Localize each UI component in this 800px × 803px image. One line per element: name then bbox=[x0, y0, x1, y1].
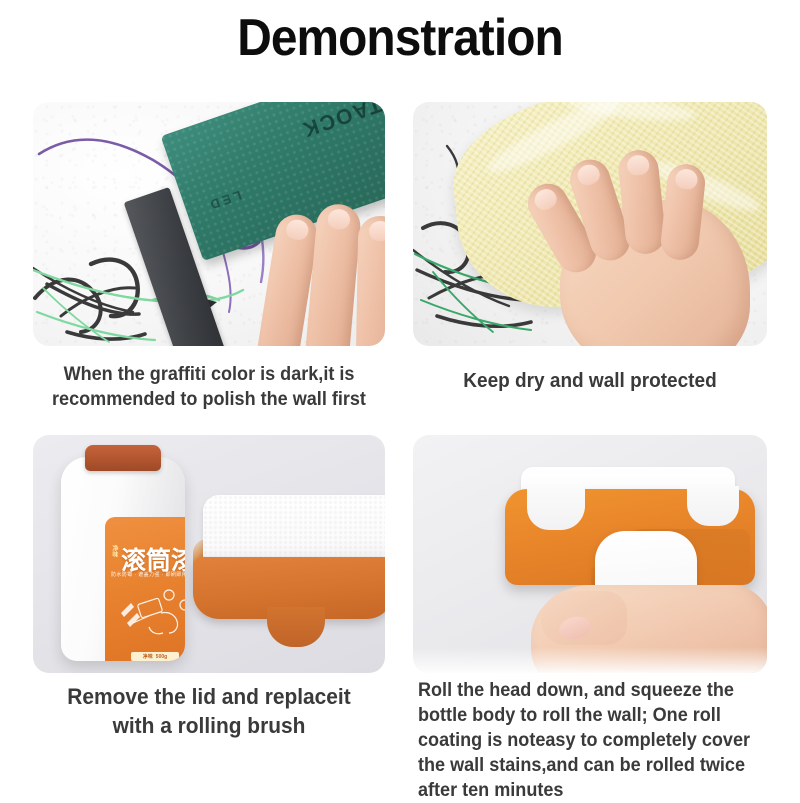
caption-line: Keep dry and wall protected bbox=[422, 368, 758, 394]
hand-holding-sanding-block bbox=[249, 188, 385, 346]
caption-line: the wall stains,and can be rolled twice bbox=[418, 753, 756, 778]
fingernail bbox=[626, 154, 650, 176]
fingernail bbox=[369, 221, 385, 241]
bottle-label-side-text: 净味 bbox=[110, 545, 117, 557]
bottle-label-subtext: 防水防霉 · 遮盖力强 · 即刷即用 · 环保无异味 bbox=[111, 571, 185, 578]
roller-frame-notch-left bbox=[527, 486, 585, 530]
caption-line: coating is noteasy to completely cover bbox=[418, 728, 756, 753]
paint-bottle: 净味 滚筒漆 防水防霉 · 遮盖力强 · 即刷即用 · 环保无异味 bbox=[61, 457, 185, 661]
caption-line: recommended to polish the wall first bbox=[42, 387, 376, 412]
demonstration-page: Demonstration bbox=[0, 0, 800, 800]
fingernail bbox=[575, 162, 602, 188]
caption-step-4: Roll the head down, and squeeze the bott… bbox=[418, 678, 756, 803]
thumbnail bbox=[557, 613, 593, 642]
caption-line: after ten minutes bbox=[418, 778, 756, 803]
roller-brush-head bbox=[193, 495, 385, 645]
roller-stem bbox=[267, 607, 325, 647]
fingernail bbox=[285, 218, 310, 241]
caption-line: Roll the head down, and squeeze the bbox=[418, 678, 756, 703]
hand-wiping-wall bbox=[518, 142, 767, 346]
page-title: Demonstration bbox=[32, 8, 768, 68]
roller-frame-notch-right bbox=[687, 486, 739, 526]
roller-illustration-icon bbox=[113, 583, 185, 645]
caption-step-3: Remove the lid and replaceit with a roll… bbox=[42, 682, 376, 740]
caption-line: Remove the lid and replaceit bbox=[42, 682, 376, 711]
bottle-weight-tag: 净味 500g bbox=[131, 652, 179, 661]
caption-line: bottle body to roll the wall; One roll bbox=[418, 703, 756, 728]
finger-ring bbox=[356, 216, 385, 346]
photo-rolling-on-wall bbox=[413, 435, 767, 673]
fingernail bbox=[674, 168, 698, 190]
fingernail bbox=[531, 185, 560, 213]
photo-bottle-and-roller-head: 净味 滚筒漆 防水防霉 · 遮盖力强 · 即刷即用 · 环保无异味 bbox=[33, 435, 385, 673]
caption-line: When the graffiti color is dark,it is bbox=[42, 362, 376, 387]
fingernail bbox=[327, 208, 351, 230]
photo-sanding-graffiti-wall: QBTAOCK LED bbox=[33, 102, 385, 346]
photo-wiping-wall-with-cloth bbox=[413, 102, 767, 346]
bottle-cap bbox=[85, 445, 161, 471]
bottle-tag-text: 净味 bbox=[143, 653, 153, 660]
bottle-label: 净味 滚筒漆 防水防霉 · 遮盖力强 · 即刷即用 · 环保无异味 bbox=[105, 517, 185, 661]
caption-line: with a rolling brush bbox=[42, 711, 376, 740]
thumb bbox=[541, 591, 627, 645]
caption-step-2: Keep dry and wall protected bbox=[422, 368, 758, 394]
bottle-weight-text: 500g bbox=[156, 654, 167, 660]
caption-step-1: When the graffiti color is dark,it is re… bbox=[42, 362, 376, 412]
photo-bottom-fade bbox=[413, 647, 767, 673]
